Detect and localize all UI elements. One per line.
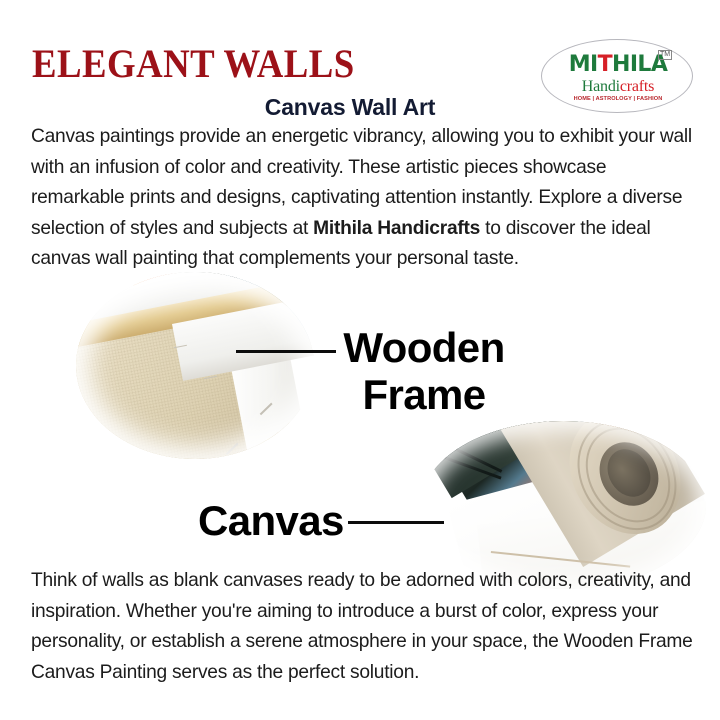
logo-subtitle: Handicrafts [542, 78, 694, 95]
page-title: ELEGANT WALLS [32, 44, 355, 84]
logo-wordmark-part-1: MI [569, 52, 598, 77]
logo-wordmark-part-2: T [598, 52, 612, 77]
canvas-label: Canvas [198, 498, 344, 544]
wooden-frame-photo [76, 272, 314, 459]
brand-mention: Mithila Handicrafts [313, 218, 480, 239]
wooden-frame-leader-line [236, 350, 336, 353]
intro-paragraph: Canvas paintings provide an energetic vi… [31, 122, 695, 275]
outro-paragraph: Think of walls as blank canvases ready t… [31, 566, 695, 688]
canvas-roll-photo [421, 421, 706, 589]
logo-subtitle-part-1: Handi [582, 78, 620, 95]
wooden-frame-label: Wooden Frame [334, 324, 514, 418]
logo-subtitle-part-2: crafts [620, 78, 654, 95]
page-header: ELEGANT WALLS Canvas Wall Art MITHILA TM… [0, 0, 720, 128]
canvas-leader-line [348, 521, 444, 524]
logo-content: MITHILA TM Handicrafts HOME | ASTROLOGY … [542, 40, 694, 114]
logo-tagline: HOME | ASTROLOGY | FASHION [542, 96, 694, 103]
trademark-icon: TM [658, 50, 672, 60]
mithila-logo: MITHILA TM Handicrafts HOME | ASTROLOGY … [541, 39, 693, 113]
